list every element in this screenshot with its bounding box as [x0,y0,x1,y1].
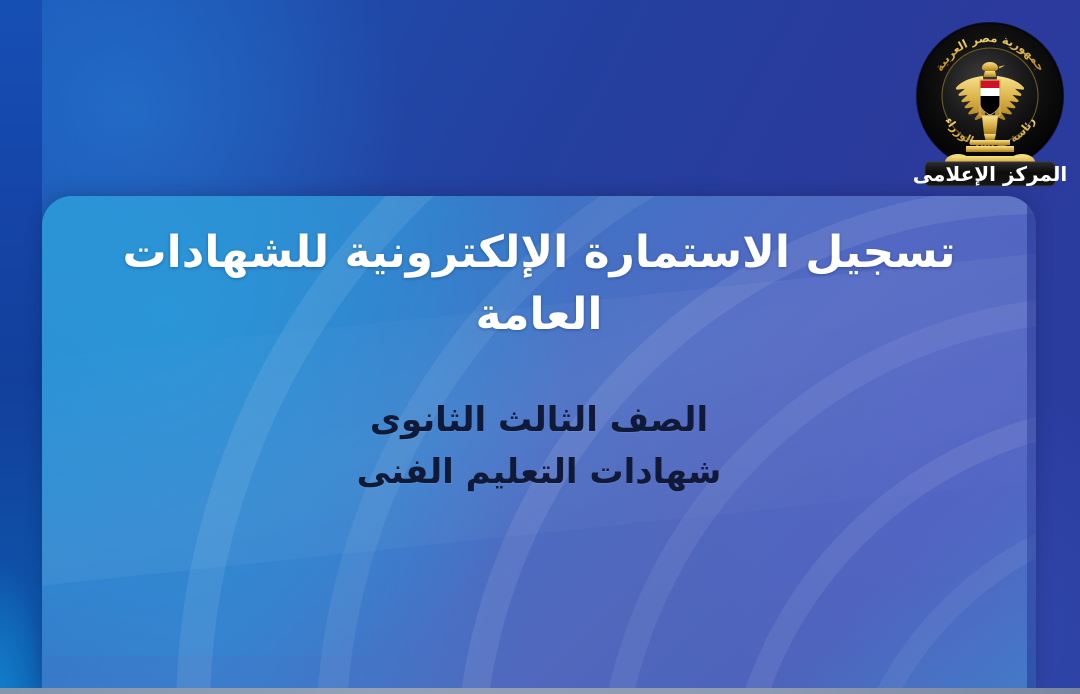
screenshot-root: جمهورية مصر العربية رئاسة مجلس الوزراء [0,0,1080,694]
emblem-banner: المركز الإعلامى [914,162,1066,186]
bottom-base-line [0,688,1080,694]
main-content-card: تسجيل الاستمارة الإلكترونية للشهادات الع… [42,196,1036,688]
subtitle-block: الصف الثالث الثانوى شهادات التعليم الفنى [112,395,966,498]
subtitle-line-certificates: شهادات التعليم الفنى [112,447,966,499]
page-title: تسجيل الاستمارة الإلكترونية للشهادات الع… [112,222,966,347]
emblem-banner-text: المركز الإعلامى [914,162,1066,186]
left-edge-strip [0,0,42,694]
card-content: تسجيل الاستمارة الإلكترونية للشهادات الع… [42,196,1036,498]
egypt-government-emblem-icon: جمهورية مصر العربية رئاسة مجلس الوزراء [914,12,1066,190]
subtitle-line-grade: الصف الثالث الثانوى [112,395,966,447]
